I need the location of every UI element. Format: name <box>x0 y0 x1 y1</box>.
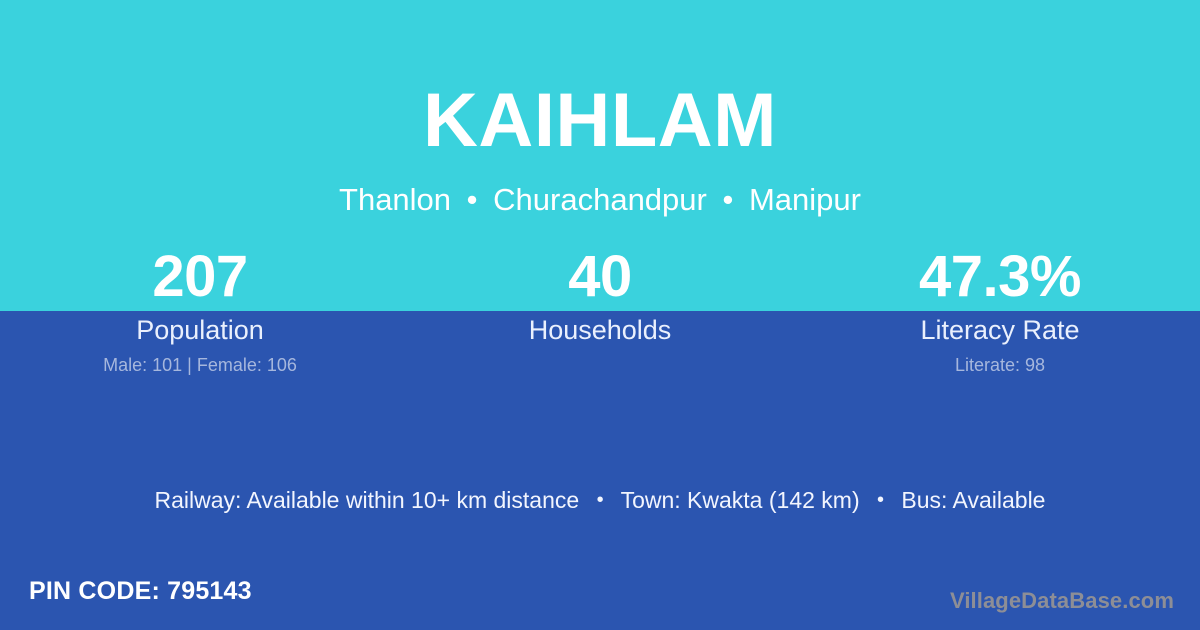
stat-label: Population <box>0 313 400 347</box>
amenity-town: Town: Kwakta (142 km) <box>621 487 860 513</box>
stat-sublabel <box>400 353 800 377</box>
stat-value: 47.3% <box>800 243 1200 311</box>
stat-population: 207 Population Male: 101 | Female: 106 <box>0 243 400 377</box>
stat-label: Literacy Rate <box>800 313 1200 347</box>
stat-sublabel: Male: 101 | Female: 106 <box>0 353 400 377</box>
pin-code-label: PIN CODE: 795143 <box>29 575 252 607</box>
amenities-summary: Railway: Available within 10+ km distanc… <box>0 484 1200 518</box>
stat-literacy-rate: 47.3% Literacy Rate Literate: 98 <box>800 243 1200 377</box>
site-brand-watermark: VillageDataBase.com <box>950 587 1174 615</box>
breadcrumb-separator-icon: • <box>715 182 740 217</box>
breadcrumb-block: Thanlon <box>339 182 451 217</box>
breadcrumb-district: Churachandpur <box>493 182 707 217</box>
breadcrumb-state: Manipur <box>749 182 861 217</box>
breadcrumb: Thanlon • Churachandpur • Manipur <box>0 181 1200 219</box>
stats-row: 207 Population Male: 101 | Female: 106 4… <box>0 243 1200 377</box>
amenity-separator-icon: • <box>586 489 615 511</box>
amenity-bus: Bus: Available <box>901 487 1045 513</box>
breadcrumb-separator-icon: • <box>460 182 485 217</box>
village-info-card: KAIHLAM Thanlon • Churachandpur • Manipu… <box>0 0 1200 630</box>
stat-households: 40 Households <box>400 243 800 377</box>
amenity-railway: Railway: Available within 10+ km distanc… <box>155 487 580 513</box>
amenity-separator-icon: • <box>866 489 895 511</box>
page-title: KAIHLAM <box>0 77 1200 165</box>
stat-value: 40 <box>400 243 800 311</box>
stat-label: Households <box>400 313 800 347</box>
stat-sublabel: Literate: 98 <box>800 353 1200 377</box>
stat-value: 207 <box>0 243 400 311</box>
